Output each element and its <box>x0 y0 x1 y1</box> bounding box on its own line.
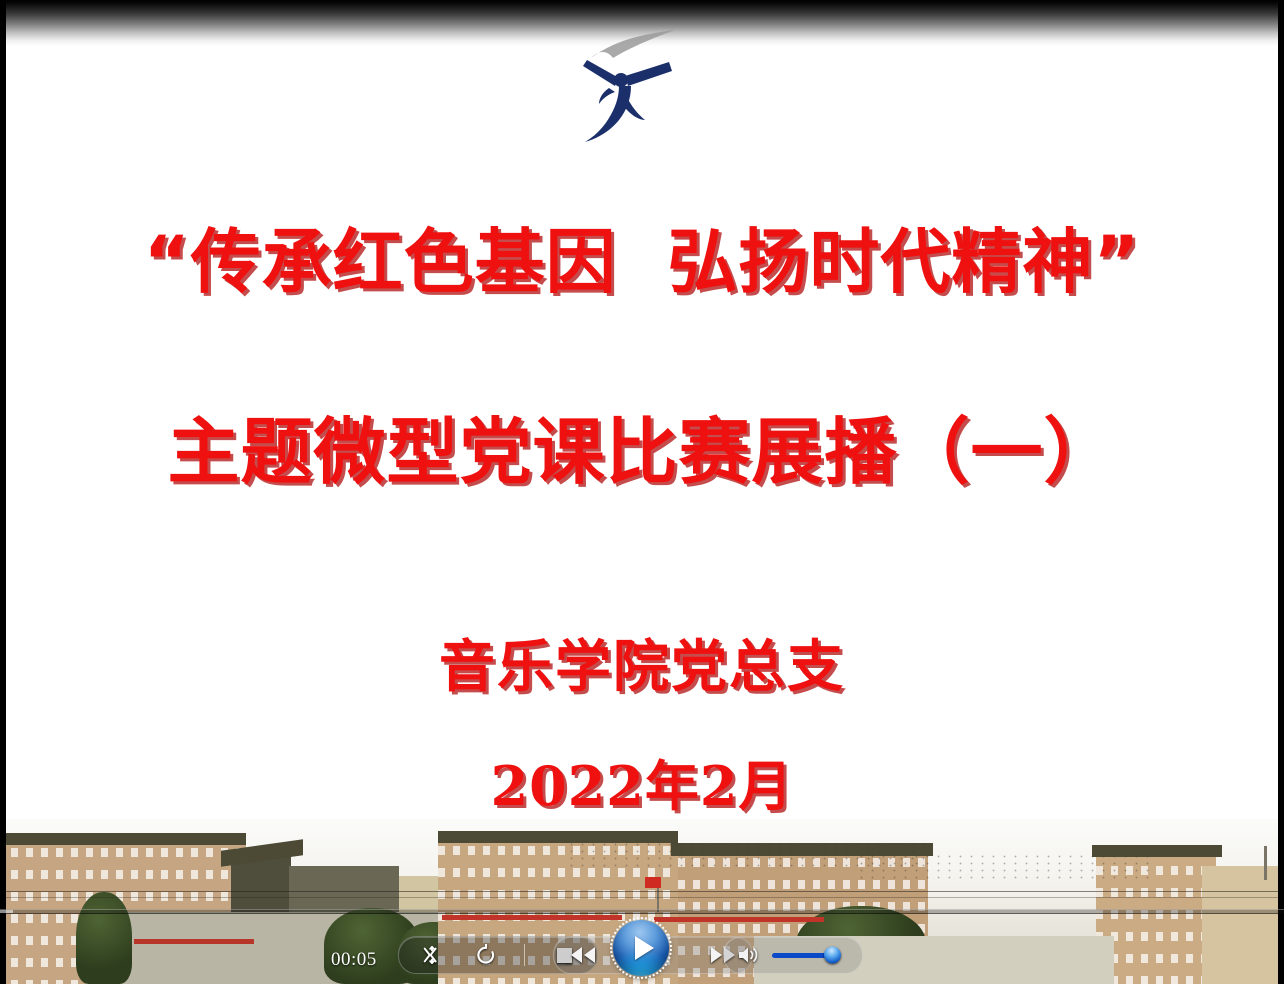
seek-bar[interactable] <box>0 909 1284 914</box>
slide-org-line: 音乐学院党总支 <box>6 622 1278 703</box>
control-divider <box>524 944 525 966</box>
banner-red-right <box>654 917 824 922</box>
power-line-upper <box>6 891 1278 892</box>
banner-red-left <box>442 915 622 920</box>
play-icon <box>635 936 654 960</box>
slide-date-line: 2022年2月 <box>6 742 1278 821</box>
volume-slider[interactable] <box>772 953 834 958</box>
repeat-icon[interactable] <box>471 940 501 970</box>
slide-title-line1: “传承红色基因 弘扬时代精神” <box>6 206 1278 307</box>
volume-slider-handle[interactable] <box>824 947 841 964</box>
dancer-logo <box>557 24 727 144</box>
flag <box>645 877 661 888</box>
birds-right <box>856 853 1156 879</box>
rewind-button[interactable] <box>568 940 598 970</box>
slide-title-line2: 主题微型党课比赛展播（一） <box>6 393 1278 498</box>
current-time-label: 00:05 <box>331 949 377 971</box>
utility-pole <box>1264 846 1267 880</box>
control-group-volume <box>723 936 863 974</box>
shuffle-icon[interactable] <box>417 940 447 970</box>
volume-icon[interactable] <box>734 940 764 970</box>
seek-progress <box>0 910 13 913</box>
media-player-window: “传承红色基因 弘扬时代精神” 主题微型党课比赛展播（一） 音乐学院党总支 20… <box>0 0 1284 984</box>
video-surface[interactable]: “传承红色基因 弘扬时代精神” 主题微型党课比赛展播（一） 音乐学院党总支 20… <box>6 0 1278 984</box>
roof-left <box>6 833 246 845</box>
power-line-lower <box>6 897 1278 898</box>
play-button[interactable] <box>613 920 669 976</box>
